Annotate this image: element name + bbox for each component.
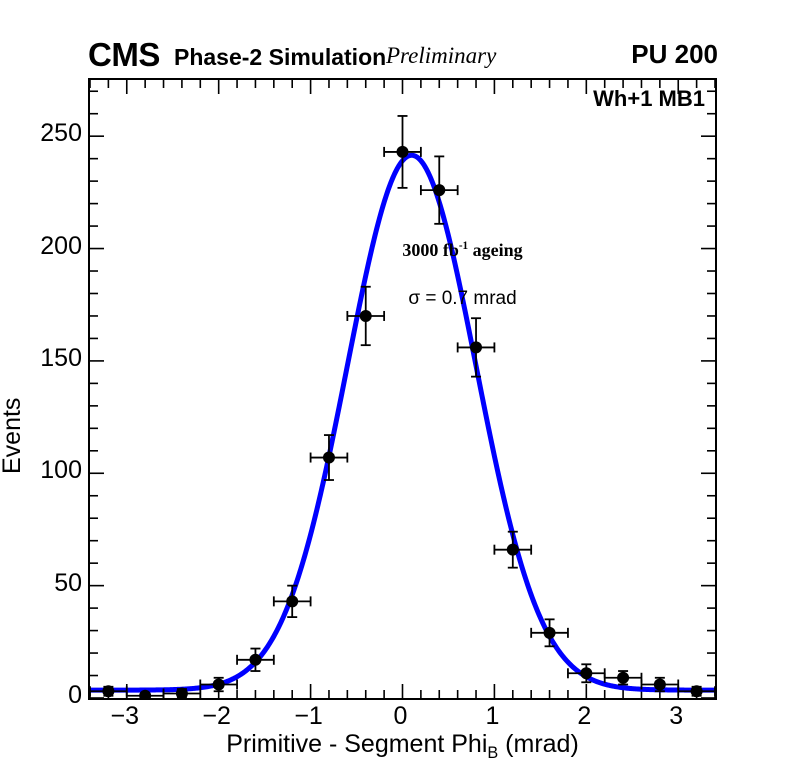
chart-canvas (90, 80, 715, 698)
data-point-marker (617, 672, 629, 684)
x-tick-label: −3 (95, 702, 155, 731)
cms-logo-text: CMS (88, 36, 160, 74)
lumi-suffix: ageing (468, 240, 523, 260)
y-tick-label: 200 (12, 232, 82, 261)
pileup-label: PU 200 (631, 39, 718, 70)
lumi-exponent: -1 (459, 240, 468, 252)
data-point-marker (433, 184, 445, 196)
data-point-marker (286, 595, 298, 607)
data-point-marker (102, 685, 114, 697)
x-tick-label: −1 (279, 702, 339, 731)
y-tick-label: 0 (12, 681, 82, 710)
y-tick-label: 250 (12, 119, 82, 148)
data-point-marker (323, 452, 335, 464)
x-tick-label: −2 (187, 702, 247, 731)
x-tick-label: 2 (554, 702, 614, 731)
detector-label: Wh+1 MB1 (593, 86, 705, 112)
data-point-marker (213, 679, 225, 691)
gaussian-fit-curve (90, 155, 715, 690)
data-point-marker (249, 654, 261, 666)
data-point-marker (360, 310, 372, 322)
y-tick-label: 50 (12, 569, 82, 598)
x-tick-label: 1 (462, 702, 522, 731)
data-point-marker (691, 685, 703, 697)
x-axis-label-main: Primitive - Segment Phi (226, 730, 487, 758)
data-point-marker (654, 679, 666, 691)
x-tick-label: 0 (371, 702, 431, 731)
lumi-prefix: 3000 fb (402, 240, 459, 260)
data-point-marker (544, 627, 556, 639)
data-point-marker (507, 544, 519, 556)
x-tick-label: 3 (646, 702, 706, 731)
data-points-group (90, 116, 715, 698)
simulation-label: Phase-2 Simulation (174, 44, 386, 71)
data-point-marker (580, 667, 592, 679)
resolution-label: σ = 0.7 mrad (90, 288, 715, 310)
data-point-marker (397, 146, 409, 158)
plot-frame: Wh+1 MB1 3000 fb-1 ageing σ = 0.7 mrad (88, 78, 717, 700)
plot-area (90, 80, 715, 698)
y-tick-label: 150 (12, 344, 82, 373)
x-axis-label-unit: (mrad) (498, 730, 579, 758)
x-axis-label-sub: B (487, 744, 498, 762)
data-point-marker (470, 341, 482, 353)
plot-header: CMS Phase-2 Simulation Preliminary PU 20… (88, 38, 718, 70)
luminosity-label: 3000 fb-1 ageing (90, 240, 715, 261)
y-axis-tick-labels: 050100150200250 (8, 78, 82, 700)
y-tick-label: 100 (12, 456, 82, 485)
x-axis-label: Primitive - Segment PhiB (mrad) (88, 730, 717, 763)
resolution-text: σ = 0.7 mrad (408, 288, 516, 309)
preliminary-label: Preliminary (386, 43, 496, 69)
